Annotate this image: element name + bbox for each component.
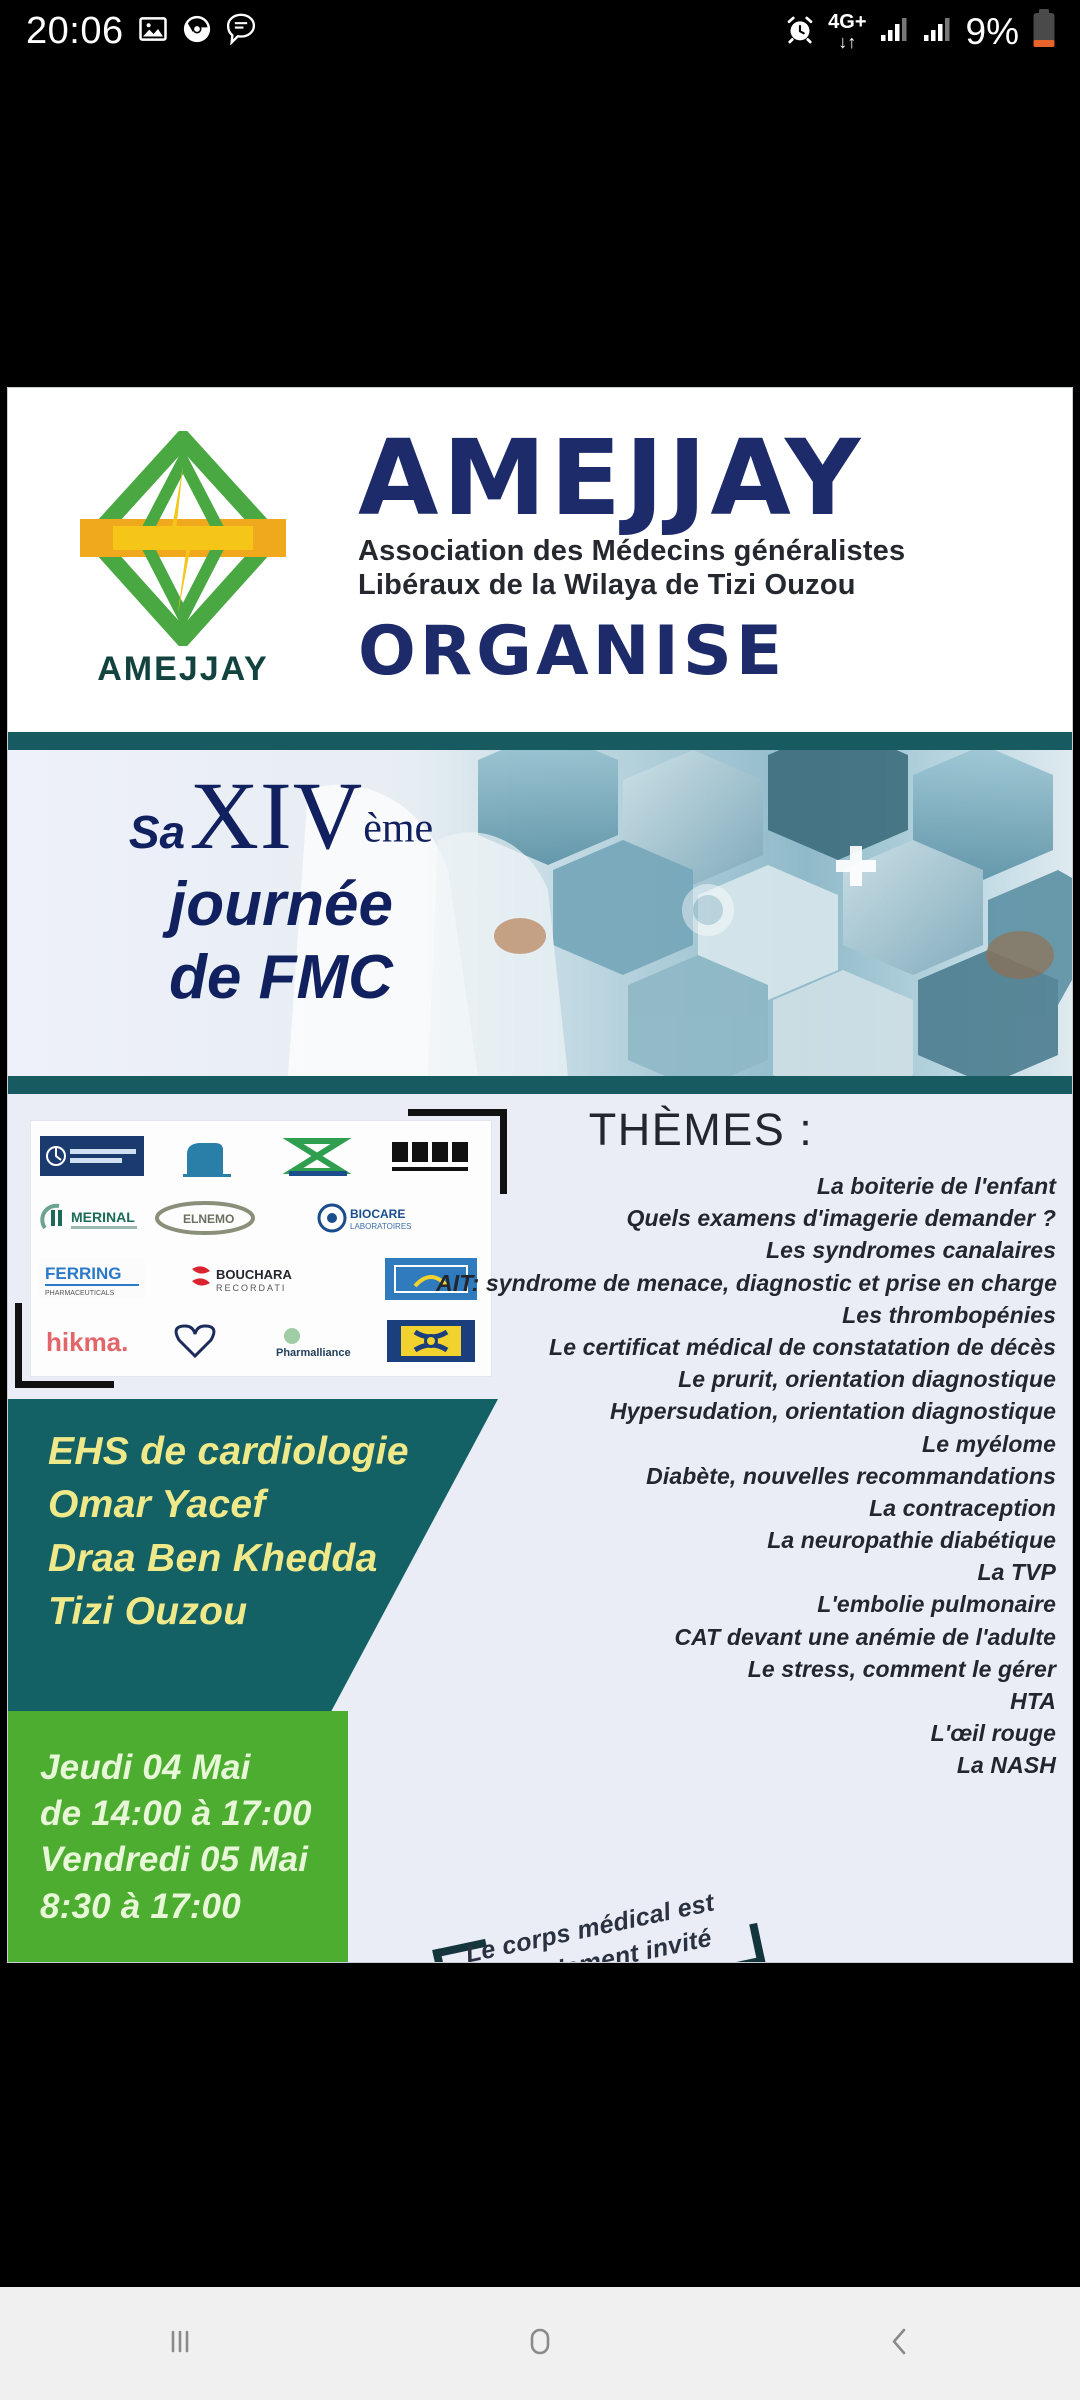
chrome-icon [182,14,212,49]
android-navigation-bar [0,2287,1080,2400]
venue-line-4: Tizi Ouzou [48,1585,498,1638]
theme-item: La neuropathie diabétique [436,1524,1056,1556]
svg-text:LABORATOIRES: LABORATOIRES [350,1222,412,1231]
network-type-label: 4G+ [828,12,866,32]
message-icon [226,13,256,50]
venue-line-3: Draa Ben Khedda [48,1532,498,1585]
event-title-sa: Sa [129,806,185,858]
poster-body: MERINAL ELNEMO BIOCARELABORATOIRES FERRI… [8,1094,1072,1962]
home-button[interactable] [440,2287,640,2400]
signal-bars-sim2-icon [923,16,953,47]
home-icon [517,2318,563,2369]
svg-text:MERINAL: MERINAL [71,1209,135,1225]
svg-text:Pharmalliance: Pharmalliance [276,1347,351,1359]
svg-text:FERRING: FERRING [45,1264,122,1283]
status-clock: 20:06 [26,12,124,50]
brand-subtitle-line2: Libéraux de la Wilaya de Tizi Ouzou [358,568,1044,602]
theme-item: Hypersudation, orientation diagnostique [436,1395,1056,1427]
themes-heading: THÈMES : [436,1104,1056,1156]
svg-text:RECORDATI: RECORDATI [216,1283,286,1293]
dates-block: Jeudi 04 Mai de 14:00 à 17:00 Vendredi 0… [8,1711,348,1962]
image-icon [138,14,168,49]
dates-line-3: Vendredi 05 Mai [40,1837,348,1883]
network-type-indicator: 4G+ ↓↑ [828,12,866,51]
event-title-row3: de FMC [46,944,516,1012]
signal-bars-sim1-icon [880,16,910,47]
back-button[interactable] [800,2287,1000,2400]
svg-text:PHARMACEUTICALS: PHARMACEUTICALS [45,1290,115,1297]
event-title-band: Sa XIVème journée de FMC [8,750,1072,1076]
theme-item: L'œil rouge [436,1717,1056,1749]
sponsor-logo: MERINAL [37,1189,146,1247]
event-title-row1: Sa XIVème [46,768,516,864]
header-divider [8,732,1072,750]
sponsor-logo [37,1127,146,1185]
brand-title: AMEJJAY [358,429,1044,528]
theme-item: La TVP [436,1556,1056,1588]
theme-item: La NASH [436,1749,1056,1781]
sponsor-logo: FERRINGPHARMACEUTICALS [37,1251,146,1309]
battery-percent-label: 9% [966,13,1019,50]
back-icon [877,2318,923,2369]
poster-header-text: AMEJJAY Association des Médecins général… [358,429,1072,691]
organise-label: ORGANISE [358,612,1044,691]
sponsor-logo: BOUCHARARECORDATI [150,1251,372,1309]
theme-item: Les thrombopénies [436,1299,1056,1331]
svg-text:BOUCHARA: BOUCHARA [216,1267,292,1282]
sponsor-logo [150,1127,259,1185]
poster-image[interactable]: AMEJJAY AMEJJAY Association des Médecins… [8,388,1072,1962]
brand-subtitle-line1: Association des Médecins généralistes [358,534,1044,568]
dates-line-1: Jeudi 04 Mai [40,1745,348,1791]
theme-item: La boiterie de l'enfant [436,1170,1056,1202]
venue-block: EHS de cardiologie Omar Yacef Draa Ben K… [8,1399,498,1711]
theme-item: HTA [436,1685,1056,1717]
dates-line-4: 8:30 à 17:00 [40,1884,348,1930]
venue-line-2: Omar Yacef [48,1478,498,1531]
theme-item: L'embolie pulmonaire [436,1588,1056,1620]
theme-item: Le myélome [436,1428,1056,1460]
svg-text:ELNEMO: ELNEMO [183,1212,234,1226]
amejjay-logo-mark [58,431,308,646]
body-divider [8,1076,1072,1094]
recents-button[interactable] [80,2287,280,2400]
theme-item: AIT: syndrome de menace, diagnostic et p… [436,1267,1056,1299]
sponsors-corner-bottom-left [15,1303,114,1388]
event-title-row2: journée [46,866,516,944]
battery-low-icon [1032,9,1056,54]
theme-item: Le certificat médical de constatation de… [436,1331,1056,1363]
alarm-icon [785,14,815,49]
status-bar-left: 20:06 [0,12,256,50]
poster-header: AMEJJAY AMEJJAY Association des Médecins… [8,388,1072,732]
amejjay-logo: AMEJJAY [8,431,358,689]
data-arrows-icon: ↓↑ [838,33,856,51]
dates-line-2: de 14:00 à 17:00 [40,1791,348,1837]
theme-item: Diabète, nouvelles recommandations [436,1460,1056,1492]
amejjay-logo-wordmark: AMEJJAY [97,650,268,689]
svg-text:BIOCARE: BIOCARE [350,1207,405,1221]
theme-item: CAT devant une anémie de l'adulte [436,1621,1056,1653]
status-bar-right: 4G+ ↓↑ 9% [785,9,1080,54]
sponsor-logo: Pharmalliance [263,1312,372,1370]
theme-item: La contraception [436,1492,1056,1524]
themes-list: La boiterie de l'enfant Quels examens d'… [436,1170,1056,1782]
venue-line-1: EHS de cardiologie [48,1425,498,1478]
event-title-number: XIV [190,762,364,869]
sponsor-logo: ELNEMO [150,1189,259,1247]
theme-item: Le stress, comment le gérer [436,1653,1056,1685]
themes-section: THÈMES : La boiterie de l'enfant Quels e… [436,1104,1056,1782]
event-title-ordinal: ème [363,806,433,852]
recents-icon [157,2318,203,2369]
status-bar: 20:06 4G+ ↓↑ 9% [0,0,1080,62]
sponsor-logo [150,1312,259,1370]
sponsor-logo [263,1127,372,1185]
event-title-text: Sa XIVème journée de FMC [46,768,516,1012]
theme-item: Les syndromes canalaires [436,1234,1056,1266]
theme-item: Le prurit, orientation diagnostique [436,1363,1056,1395]
theme-item: Quels examens d'imagerie demander ? [436,1202,1056,1234]
sponsors-panel: MERINAL ELNEMO BIOCARELABORATOIRES FERRI… [30,1120,492,1377]
